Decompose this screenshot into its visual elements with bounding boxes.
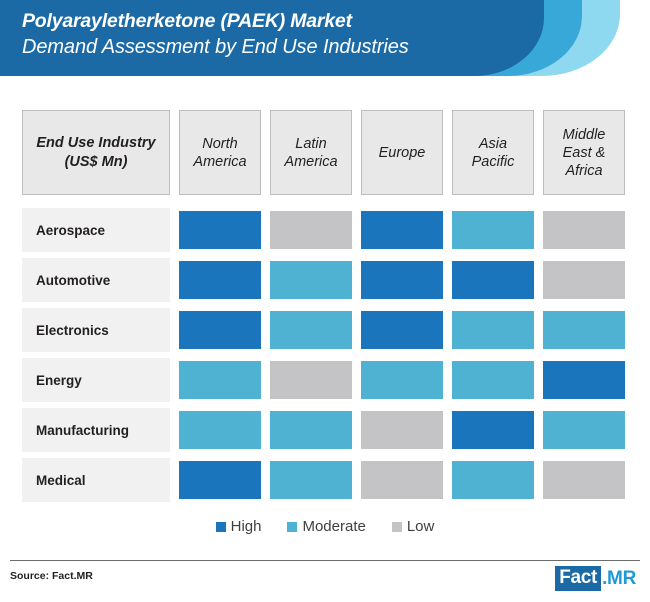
column-header-asia-pacific: Asia Pacific [452,110,534,195]
demand-swatch-high [361,261,443,299]
demand-swatch-moderate [452,461,534,499]
matrix-cell-electronics-europe [361,308,443,352]
legend-swatch-moderate [287,522,297,532]
matrix-cell-automotive-middle-east-africa [543,258,625,302]
legend-item-high: High [216,518,262,535]
column-gap [170,458,179,502]
column-gap [261,458,270,502]
demand-swatch-low [543,211,625,249]
demand-swatch-moderate [270,311,352,349]
matrix-row: Medical [22,458,630,502]
column-gap [443,308,452,352]
column-gap [443,110,452,195]
column-header-europe: Europe [361,110,443,195]
demand-swatch-moderate [452,361,534,399]
legend-label-high: High [231,518,262,535]
logo-mark-text: Fact [555,566,601,591]
demand-swatch-moderate [270,461,352,499]
matrix-cell-manufacturing-middle-east-africa [543,408,625,452]
matrix-cell-medical-europe [361,458,443,502]
matrix-cell-manufacturing-north-america [179,408,261,452]
column-gap [443,458,452,502]
matrix-cell-manufacturing-asia-pacific [452,408,534,452]
demand-swatch-high [543,361,625,399]
page-title: Polyarayletherketone (PAEK) Market [22,8,562,34]
matrix-cell-medical-north-america [179,458,261,502]
column-gap [352,110,361,195]
header-banner: Polyarayletherketone (PAEK) Market Deman… [0,0,650,76]
column-gap [261,308,270,352]
column-gap [170,408,179,452]
demand-swatch-low [270,211,352,249]
demand-swatch-high [179,261,261,299]
legend-swatch-high [216,522,226,532]
column-gap [443,208,452,252]
column-gap [170,110,179,195]
column-gap [261,258,270,302]
row-label-energy: Energy [22,358,170,402]
matrix-cell-aerospace-asia-pacific [452,208,534,252]
demand-swatch-low [361,461,443,499]
demand-swatch-high [452,261,534,299]
column-gap [352,408,361,452]
legend: HighModerateLow [0,518,650,535]
header-text-block: Polyarayletherketone (PAEK) Market Deman… [22,8,562,61]
column-header-middle-east-africa: Middle East & Africa [543,110,625,195]
matrix-cell-electronics-latin-america [270,308,352,352]
page-subtitle: Demand Assessment by End Use Industries [22,34,562,61]
column-header-north-america: North America [179,110,261,195]
column-gap [261,208,270,252]
footer-divider [10,560,640,561]
demand-swatch-moderate [452,211,534,249]
demand-swatch-low [543,461,625,499]
column-gap [352,358,361,402]
demand-swatch-high [179,461,261,499]
column-gap [443,358,452,402]
row-label-medical: Medical [22,458,170,502]
matrix-cell-manufacturing-latin-america [270,408,352,452]
column-gap [443,258,452,302]
demand-swatch-moderate [543,311,625,349]
column-gap [170,308,179,352]
matrix-row: Manufacturing [22,408,630,452]
legend-label-moderate: Moderate [302,518,365,535]
column-gap [170,358,179,402]
column-gap [352,458,361,502]
legend-item-moderate: Moderate [287,518,365,535]
demand-swatch-moderate [179,411,261,449]
demand-swatch-low [361,411,443,449]
legend-item-low: Low [392,518,435,535]
matrix-cell-aerospace-middle-east-africa [543,208,625,252]
matrix-cell-aerospace-latin-america [270,208,352,252]
matrix-cell-medical-latin-america [270,458,352,502]
legend-label-low: Low [407,518,435,535]
matrix-cell-energy-europe [361,358,443,402]
demand-swatch-low [543,261,625,299]
matrix-body: AerospaceAutomotiveElectronicsEnergyManu… [22,208,630,502]
legend-swatch-low [392,522,402,532]
column-gap [352,208,361,252]
source-label: Source: Fact.MR [10,570,93,582]
matrix-cell-electronics-asia-pacific [452,308,534,352]
column-gap [352,258,361,302]
column-header-end-use-industry: End Use Industry (US$ Mn) [22,110,170,195]
demand-swatch-moderate [270,411,352,449]
row-label-manufacturing: Manufacturing [22,408,170,452]
matrix-cell-electronics-north-america [179,308,261,352]
demand-swatch-high [452,411,534,449]
column-gap [534,458,543,502]
matrix-cell-automotive-latin-america [270,258,352,302]
column-gap [534,358,543,402]
demand-swatch-moderate [452,311,534,349]
matrix-cell-electronics-middle-east-africa [543,308,625,352]
row-label-electronics: Electronics [22,308,170,352]
demand-swatch-moderate [179,361,261,399]
matrix-row: Aerospace [22,208,630,252]
matrix-cell-manufacturing-europe [361,408,443,452]
matrix-cell-automotive-asia-pacific [452,258,534,302]
matrix-cell-medical-middle-east-africa [543,458,625,502]
matrix-cell-energy-middle-east-africa [543,358,625,402]
demand-swatch-moderate [543,411,625,449]
demand-swatch-moderate [361,361,443,399]
column-gap [534,208,543,252]
matrix-cell-aerospace-north-america [179,208,261,252]
matrix-cell-automotive-europe [361,258,443,302]
column-gap [170,258,179,302]
matrix-cell-aerospace-europe [361,208,443,252]
column-gap [534,110,543,195]
demand-swatch-low [270,361,352,399]
column-gap [534,408,543,452]
column-gap [170,208,179,252]
column-gap [352,308,361,352]
demand-swatch-moderate [270,261,352,299]
row-label-aerospace: Aerospace [22,208,170,252]
column-gap [534,258,543,302]
demand-assessment-matrix: End Use Industry (US$ Mn) North America … [22,110,630,508]
factmr-logo: Fact .MR [555,566,636,591]
matrix-cell-medical-asia-pacific [452,458,534,502]
demand-swatch-high [361,211,443,249]
demand-swatch-high [179,211,261,249]
column-gap [261,408,270,452]
column-gap [261,358,270,402]
column-gap [443,408,452,452]
demand-swatch-high [179,311,261,349]
row-label-automotive: Automotive [22,258,170,302]
matrix-cell-energy-north-america [179,358,261,402]
column-header-latin-america: Latin America [270,110,352,195]
matrix-header-row: End Use Industry (US$ Mn) North America … [22,110,630,195]
column-gap [534,308,543,352]
matrix-cell-energy-latin-america [270,358,352,402]
matrix-cell-energy-asia-pacific [452,358,534,402]
matrix-row: Automotive [22,258,630,302]
demand-swatch-high [361,311,443,349]
matrix-row: Energy [22,358,630,402]
column-gap [261,110,270,195]
matrix-cell-automotive-north-america [179,258,261,302]
logo-suffix-text: .MR [602,568,636,590]
matrix-row: Electronics [22,308,630,352]
